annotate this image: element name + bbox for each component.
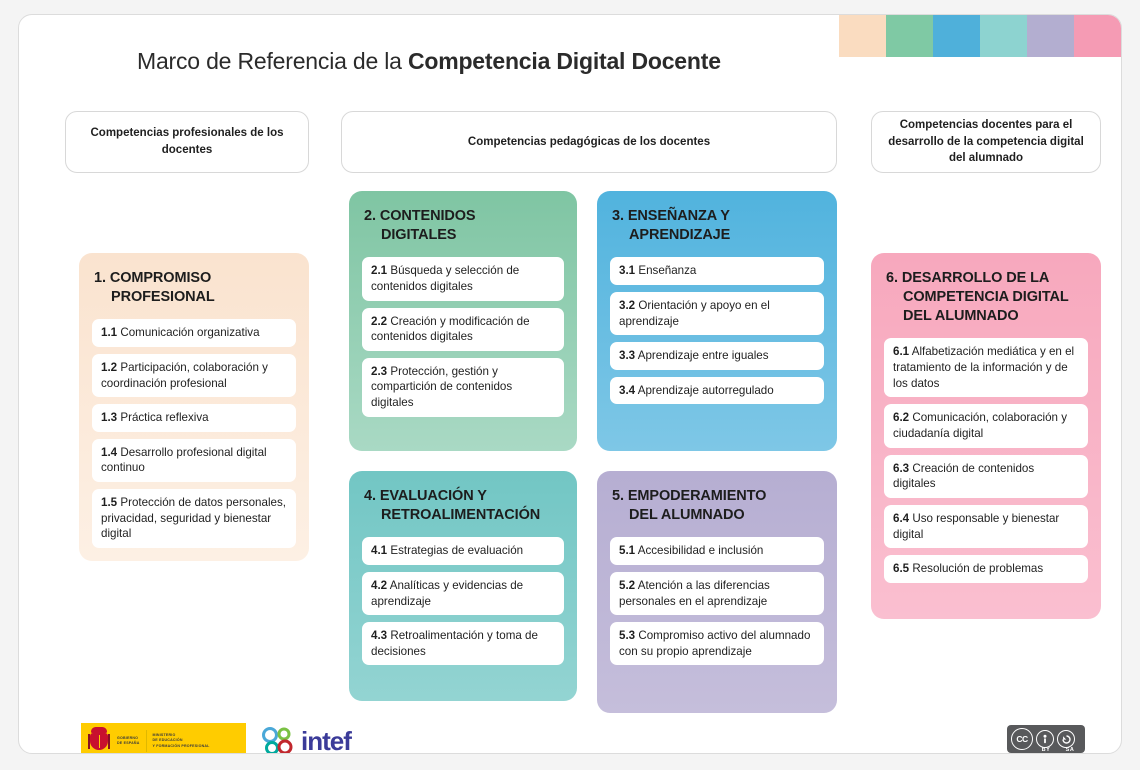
competence-item-4.2[interactable]: 4.2 Analíticas y evidencias de aprendiza…: [362, 572, 564, 615]
competence-item-2.1[interactable]: 2.1 Búsqueda y selección de contenidos d…: [362, 257, 564, 300]
competence-item-3.1[interactable]: 3.1 Enseñanza: [610, 257, 824, 285]
competence-item-5.3[interactable]: 5.3 Compromiso activo del alumnado con s…: [610, 622, 824, 665]
competence-block-3: 3. ENSEÑANZA YAPRENDIZAJE3.1 Enseñanza3.…: [597, 191, 837, 451]
competence-item-5.1-number: 5.1: [619, 544, 635, 557]
infographic-canvas: Marco de Referencia de la Competencia Di…: [0, 0, 1140, 770]
color-swatch-2: [886, 15, 933, 57]
competence-block-2: 2. CONTENIDOSDIGITALES2.1 Búsqueda y sel…: [349, 191, 577, 451]
government-of-spain-logo: GOBIERNO DE ESPAÑA MINISTERIO DE EDUCACI…: [81, 723, 246, 754]
cc-by-label: BY: [1042, 747, 1051, 753]
competence-item-1.4-number: 1.4: [101, 446, 117, 459]
competence-item-5.2-number: 5.2: [619, 579, 635, 592]
share-alike-glyph: [1061, 734, 1072, 745]
competence-item-2.2[interactable]: 2.2 Creación y modificación de contenido…: [362, 308, 564, 351]
column-header-pedagogical: Competencias pedagógicas de los docentes: [341, 111, 837, 173]
logo-divider: [146, 730, 147, 752]
competence-item-4.1-text: Estrategias de evaluación: [387, 544, 523, 557]
cc-sa-label: SA: [1066, 747, 1075, 753]
competence-item-2.3-text: Protección, gestión y compartición de co…: [371, 365, 512, 409]
competence-item-2.3[interactable]: 2.3 Protección, gestión y compartición d…: [362, 358, 564, 417]
competence-item-3.1-text: Enseñanza: [635, 264, 696, 277]
competence-item-6.5-text: Resolución de problemas: [909, 562, 1043, 575]
competence-item-4.3[interactable]: 4.3 Retroalimentación y toma de decision…: [362, 622, 564, 665]
block-5-title-line-1: 5. EMPODERAMIENTO: [612, 488, 766, 504]
competence-block-6: 6. DESARROLLO DE LACOMPETENCIA DIGITALDE…: [871, 253, 1101, 619]
block-1-title-line-1: 1. COMPROMISO: [94, 270, 211, 286]
competence-item-1.3-number: 1.3: [101, 411, 117, 424]
column-header-pedagogical-label: Competencias pedagógicas de los docentes: [468, 134, 710, 151]
competence-item-5.2-text: Atención a las diferencias personales en…: [619, 579, 770, 608]
cc-license-labels: BY SA: [1034, 747, 1082, 753]
block-6-title-line-1: 6. DESARROLLO DE LA: [886, 270, 1049, 286]
spain-coat-of-arms-icon: [87, 726, 111, 754]
column-header-professional: Competencias profesionales de los docent…: [65, 111, 309, 173]
competence-item-6.4[interactable]: 6.4 Uso responsable y bienestar digital: [884, 505, 1088, 548]
creative-commons-badge: CC BY SA: [1007, 725, 1085, 753]
block-3-title: 3. ENSEÑANZA YAPRENDIZAJE: [612, 207, 824, 245]
competence-item-1.4-text: Desarrollo profesional digital continuo: [101, 446, 267, 475]
competence-item-5.3-text: Compromiso activo del alumnado con su pr…: [619, 629, 810, 658]
color-swatch-3: [933, 15, 980, 57]
column-header-student: Competencias docentes para el desarrollo…: [871, 111, 1101, 173]
competence-item-2.1-text: Búsqueda y selección de contenidos digit…: [371, 264, 519, 293]
competence-item-2.2-number: 2.2: [371, 315, 387, 328]
main-card: Marco de Referencia de la Competencia Di…: [18, 14, 1122, 754]
competence-item-4.2-number: 4.2: [371, 579, 387, 592]
competence-item-3.2-number: 3.2: [619, 299, 635, 312]
block-5-title-line-2: DEL ALUMNADO: [612, 506, 745, 525]
page-title-bold: Competencia Digital Docente: [408, 48, 721, 74]
competence-item-1.5[interactable]: 1.5 Protección de datos personales, priv…: [92, 489, 296, 548]
block-2-title-line-1: 2. CONTENIDOS: [364, 208, 476, 224]
competence-item-6.4-number: 6.4: [893, 512, 909, 525]
competence-item-5.1[interactable]: 5.1 Accesibilidad e inclusión: [610, 537, 824, 565]
competence-item-2.2-text: Creación y modificación de contenidos di…: [371, 315, 530, 344]
competence-item-1.1[interactable]: 1.1 Comunicación organizativa: [92, 319, 296, 347]
competence-item-1.2-text: Participación, colaboración y coordinaci…: [101, 361, 268, 390]
block-2-title-line-2: DIGITALES: [364, 226, 456, 245]
cc-icon: CC: [1011, 728, 1033, 750]
competence-item-3.3[interactable]: 3.3 Aprendizaje entre iguales: [610, 342, 824, 370]
person-glyph: [1040, 734, 1050, 744]
block-6-title-line-2: COMPETENCIA DIGITAL: [886, 288, 1069, 307]
competence-item-1.4[interactable]: 1.4 Desarrollo profesional digital conti…: [92, 439, 296, 482]
cc-sa-icon: [1057, 730, 1075, 748]
ministry-text-block: MINISTERIO DE EDUCACIÓN Y FORMACIÓN PROF…: [153, 733, 210, 749]
color-swatch-4: [980, 15, 1027, 57]
color-swatch-6: [1074, 15, 1121, 57]
block-4-title-line-1: 4. EVALUACIÓN Y: [364, 488, 487, 504]
competence-item-1.3[interactable]: 1.3 Práctica reflexiva: [92, 404, 296, 432]
block-2-title: 2. CONTENIDOSDIGITALES: [364, 207, 564, 245]
competence-item-1.5-number: 1.5: [101, 496, 117, 509]
competence-item-4.2-text: Analíticas y evidencias de aprendizaje: [371, 579, 523, 608]
gov-text-block: GOBIERNO DE ESPAÑA: [117, 736, 140, 747]
color-swatch-strip: [839, 15, 1121, 57]
competence-item-5.1-text: Accesibilidad e inclusión: [635, 544, 763, 557]
competence-item-6.5[interactable]: 6.5 Resolución de problemas: [884, 555, 1088, 583]
competence-item-3.3-text: Aprendizaje entre iguales: [635, 349, 768, 362]
block-4-title: 4. EVALUACIÓN YRETROALIMENTACIÓN: [364, 487, 564, 525]
competence-item-1.2-number: 1.2: [101, 361, 117, 374]
competence-item-1.2[interactable]: 1.2 Participación, colaboración y coordi…: [92, 354, 296, 397]
competence-item-6.3-text: Creación de contenidos digitales: [893, 462, 1034, 491]
page-title: Marco de Referencia de la Competencia Di…: [137, 48, 721, 75]
competence-item-1.1-number: 1.1: [101, 326, 117, 339]
competence-item-3.4-number: 3.4: [619, 384, 635, 397]
competence-item-3.1-number: 3.1: [619, 264, 635, 277]
competence-block-5: 5. EMPODERAMIENTODEL ALUMNADO5.1 Accesib…: [597, 471, 837, 713]
competence-item-5.2[interactable]: 5.2 Atención a las diferencias personale…: [610, 572, 824, 615]
competence-item-6.3-number: 6.3: [893, 462, 909, 475]
competence-item-3.2[interactable]: 3.2 Orientación y apoyo en el aprendizaj…: [610, 292, 824, 335]
block-6-title: 6. DESARROLLO DE LACOMPETENCIA DIGITALDE…: [886, 269, 1088, 326]
gov-line-2: DE ESPAÑA: [117, 741, 140, 746]
ministry-line-3: Y FORMACIÓN PROFESIONAL: [153, 744, 210, 749]
competence-item-3.3-number: 3.3: [619, 349, 635, 362]
competence-item-4.3-number: 4.3: [371, 629, 387, 642]
competence-item-1.1-text: Comunicación organizativa: [117, 326, 259, 339]
competence-item-2.1-number: 2.1: [371, 264, 387, 277]
competence-item-6.4-text: Uso responsable y bienestar digital: [893, 512, 1059, 541]
block-1-title-line-2: PROFESIONAL: [94, 288, 215, 307]
page-title-light: Marco de Referencia de la: [137, 48, 408, 74]
competence-item-3.4-text: Aprendizaje autorregulado: [635, 384, 774, 397]
competence-item-3.4[interactable]: 3.4 Aprendizaje autorregulado: [610, 377, 824, 405]
competence-item-5.3-number: 5.3: [619, 629, 635, 642]
color-swatch-1: [839, 15, 886, 57]
competence-item-6.5-number: 6.5: [893, 562, 909, 575]
competence-item-4.1[interactable]: 4.1 Estrategias de evaluación: [362, 537, 564, 565]
competence-block-4: 4. EVALUACIÓN YRETROALIMENTACIÓN4.1 Estr…: [349, 471, 577, 701]
competence-item-3.2-text: Orientación y apoyo en el aprendizaje: [619, 299, 770, 328]
competence-block-1: 1. COMPROMISOPROFESIONAL1.1 Comunicación…: [79, 253, 309, 561]
intef-logo: intef: [261, 724, 351, 754]
color-swatch-5: [1027, 15, 1074, 57]
competence-item-6.3[interactable]: 6.3 Creación de contenidos digitales: [884, 455, 1088, 498]
competence-item-4.1-number: 4.1: [371, 544, 387, 557]
competence-item-1.3-text: Práctica reflexiva: [117, 411, 209, 424]
competence-item-6.2[interactable]: 6.2 Comunicación, colaboración y ciudada…: [884, 404, 1088, 447]
competence-item-6.2-text: Comunicación, colaboración y ciudadanía …: [893, 411, 1067, 440]
column-header-student-label: Competencias docentes para el desarrollo…: [886, 117, 1086, 167]
intef-wordmark: intef: [301, 728, 351, 754]
intef-mark-icon: [261, 726, 295, 754]
competence-item-6.1[interactable]: 6.1 Alfabetización mediática y en el tra…: [884, 338, 1088, 397]
block-1-title: 1. COMPROMISOPROFESIONAL: [94, 269, 296, 307]
competence-item-6.1-text: Alfabetización mediática y en el tratami…: [893, 345, 1074, 389]
competence-item-6.1-number: 6.1: [893, 345, 909, 358]
competence-item-1.5-text: Protección de datos personales, privacid…: [101, 496, 286, 540]
competence-item-4.3-text: Retroalimentación y toma de decisiones: [371, 629, 538, 658]
block-6-title-line-3: DEL ALUMNADO: [886, 307, 1019, 326]
cc-by-icon: [1036, 730, 1054, 748]
block-3-title-line-2: APRENDIZAJE: [612, 226, 730, 245]
competence-item-6.2-number: 6.2: [893, 411, 909, 424]
competence-item-2.3-number: 2.3: [371, 365, 387, 378]
block-5-title: 5. EMPODERAMIENTODEL ALUMNADO: [612, 487, 824, 525]
block-4-title-line-2: RETROALIMENTACIÓN: [364, 506, 540, 525]
block-3-title-line-1: 3. ENSEÑANZA Y: [612, 208, 730, 224]
column-header-professional-label: Competencias profesionales de los docent…: [80, 125, 294, 158]
